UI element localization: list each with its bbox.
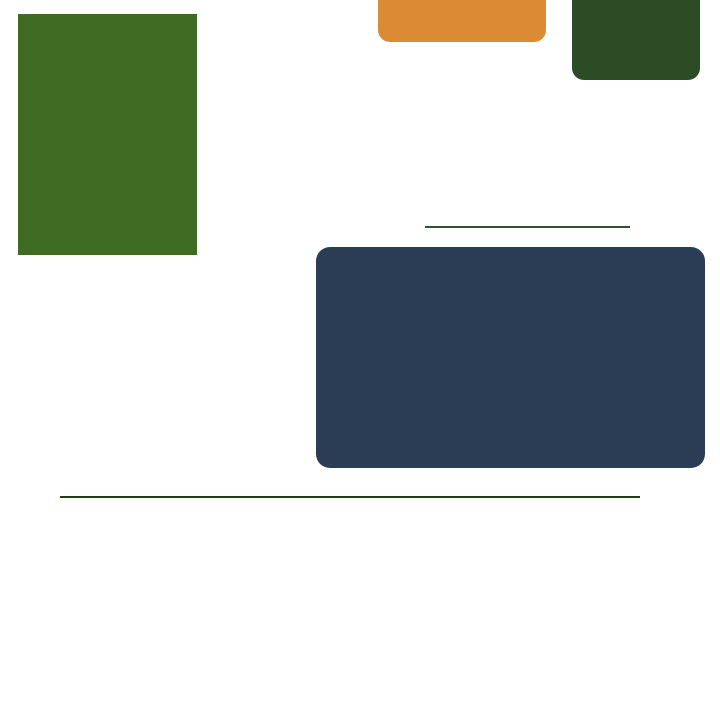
blueberry-bush-photo: [18, 14, 197, 255]
harvested-blueberries-photo: [316, 247, 705, 468]
section-divider: [60, 496, 640, 498]
care-tips-section: [60, 506, 660, 510]
plant-info-poster: [0, 0, 720, 720]
orange-rounded-block: [378, 0, 546, 42]
tagline-divider: [425, 226, 630, 228]
green-rounded-block: [572, 0, 700, 80]
